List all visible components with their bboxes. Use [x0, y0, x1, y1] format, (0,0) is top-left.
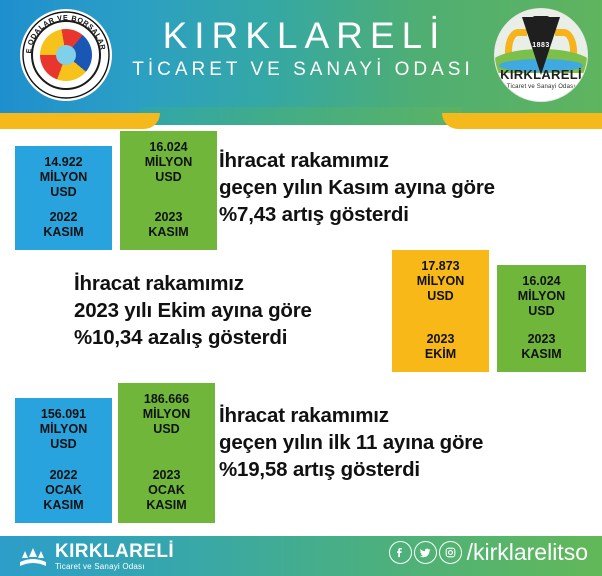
- message-ocak-kasim: İhracat rakamımız geçen yılın ilk 11 ayı…: [219, 402, 594, 483]
- bar-value: 16.024: [499, 274, 584, 289]
- bar-value: 156.091: [17, 407, 110, 422]
- bar-unit-1: MİLYON: [394, 274, 487, 289]
- message-ekim-kasim: İhracat rakamımız 2023 yılı Ekim ayına g…: [74, 270, 404, 351]
- accent-band-left: [0, 113, 160, 129]
- bar-2022-ocak-kasim: 156.091 MİLYON USD 2022 OCAK KASIM: [15, 398, 112, 523]
- bar-period-1: KASIM: [499, 347, 584, 362]
- social-handle[interactable]: /kirklarelitso: [467, 541, 588, 564]
- emblem-brand: KIRKLARELİ: [495, 67, 587, 82]
- bar-unit-2: USD: [120, 422, 213, 437]
- facebook-icon[interactable]: [389, 541, 412, 564]
- bar-year: 2022: [17, 468, 110, 483]
- bar-unit-2: USD: [17, 185, 110, 200]
- bar-unit-1: MİLYON: [120, 407, 213, 422]
- bar-value: 17.873: [394, 259, 487, 274]
- bar-period-1: KASIM: [122, 225, 215, 240]
- page-header: TÜRKİYE ODALAR VE BORSALAR BİRLİĞİ TOBB …: [0, 0, 602, 113]
- bar-period-1: EKİM: [394, 347, 487, 362]
- footer-brand-sub: Ticaret ve Sanayi Odası: [55, 561, 174, 572]
- bar-unit-2: USD: [394, 289, 487, 304]
- bar-value-block: 156.091 MİLYON USD: [17, 407, 110, 452]
- bar-value: 16.024: [122, 140, 215, 155]
- bar-unit-1: MİLYON: [499, 289, 584, 304]
- bar-unit-2: USD: [499, 304, 584, 319]
- bar-value: 14.922: [17, 155, 110, 170]
- instagram-icon[interactable]: [439, 541, 462, 564]
- bar-unit-1: MİLYON: [122, 155, 215, 170]
- bar-period-block: 2022 OCAK KASIM: [17, 468, 110, 513]
- bar-year: 2023: [122, 210, 215, 225]
- bar-2023-kasim-2: 16.024 MİLYON USD 2023 KASIM: [497, 265, 586, 372]
- footer-logo: KIRKLARELİ Ticaret ve Sanayi Odası: [18, 542, 174, 572]
- footer-social-links: /kirklarelitso: [389, 541, 588, 564]
- emblem-brand-sub: Ticaret ve Sanayi Odası: [495, 84, 587, 90]
- bar-2023-kasim: 16.024 MİLYON USD 2023 KASIM: [120, 131, 217, 250]
- bar-year: 2022: [17, 210, 110, 225]
- infographic-page: TÜRKİYE ODALAR VE BORSALAR BİRLİĞİ TOBB …: [0, 0, 602, 576]
- kirklareli-chamber-emblem: 1883 KIRKLARELİ Ticaret ve Sanayi Odası: [494, 8, 588, 102]
- bar-value-block: 17.873 MİLYON USD: [394, 259, 487, 304]
- bar-value-block: 16.024 MİLYON USD: [499, 274, 584, 319]
- bar-unit-2: USD: [122, 170, 215, 185]
- bar-value: 186.666: [120, 392, 213, 407]
- bar-2023-ocak-kasim: 186.666 MİLYON USD 2023 OCAK KASIM: [118, 383, 215, 523]
- message-kasim-yillik: İhracat rakamımız geçen yılın Kasım ayın…: [219, 147, 594, 228]
- footer-emblem-icon: [18, 545, 48, 569]
- twitter-icon[interactable]: [414, 541, 437, 564]
- bar-period-1: KASIM: [17, 225, 110, 240]
- footer-brand-block: KIRKLARELİ Ticaret ve Sanayi Odası: [55, 542, 174, 572]
- bar-unit-1: MİLYON: [17, 422, 110, 437]
- bar-period-1: OCAK: [17, 483, 110, 498]
- emblem-year: 1883: [495, 42, 587, 49]
- emblem-spear-cap-icon: [532, 16, 550, 25]
- bar-value-block: 186.666 MİLYON USD: [120, 392, 213, 437]
- bar-period-2: KASIM: [17, 498, 110, 513]
- page-footer: KIRKLARELİ Ticaret ve Sanayi Odası: [0, 536, 602, 576]
- bar-period-block: 2023 OCAK KASIM: [120, 468, 213, 513]
- bar-unit-2: USD: [17, 437, 110, 452]
- bar-year: 2023: [394, 332, 487, 347]
- bar-value-block: 16.024 MİLYON USD: [122, 140, 215, 185]
- bar-year: 2023: [120, 468, 213, 483]
- bar-period-2: KASIM: [120, 498, 213, 513]
- bar-period-1: OCAK: [120, 483, 213, 498]
- bar-period-block: 2023 KASIM: [122, 210, 215, 240]
- bar-value-block: 14.922 MİLYON USD: [17, 155, 110, 200]
- bar-2023-ekim: 17.873 MİLYON USD 2023 EKİM: [392, 250, 489, 372]
- accent-band-right: [442, 113, 602, 129]
- bar-unit-1: MİLYON: [17, 170, 110, 185]
- bar-period-block: 2023 EKİM: [394, 332, 487, 362]
- bar-period-block: 2023 KASIM: [499, 332, 584, 362]
- bar-2022-kasim: 14.922 MİLYON USD 2022 KASIM: [15, 146, 112, 250]
- bar-period-block: 2022 KASIM: [17, 210, 110, 240]
- footer-brand: KIRKLARELİ: [55, 542, 174, 561]
- header-band-fill: [140, 107, 462, 125]
- bar-year: 2023: [499, 332, 584, 347]
